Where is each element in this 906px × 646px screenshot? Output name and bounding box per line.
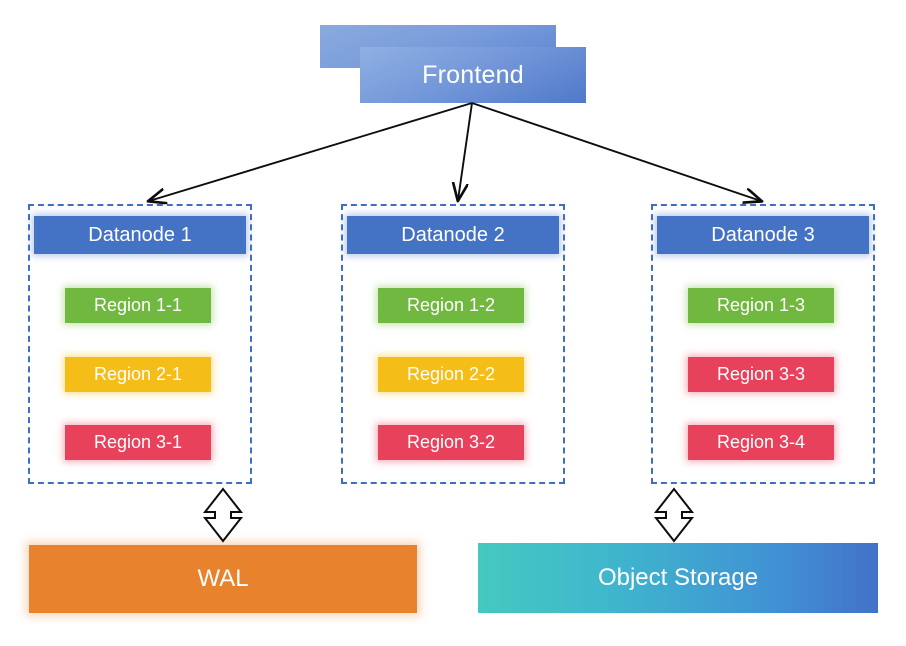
datanode-3-label: Datanode 3	[711, 224, 814, 247]
region-1-2[interactable]: Region 1-2	[378, 288, 524, 323]
region-label: Region 1-2	[407, 295, 495, 316]
region-label: Region 1-1	[94, 295, 182, 316]
region-2-1[interactable]: Region 2-1	[65, 357, 211, 392]
datanode-2-header: Datanode 2	[347, 216, 559, 254]
region-3-1[interactable]: Region 3-1	[65, 425, 211, 460]
datanode-1-container[interactable]: Datanode 1 Region 1-1 Region 2-1 Region …	[28, 204, 252, 484]
object-storage-label: Object Storage	[598, 564, 758, 592]
region-label: Region 3-1	[94, 432, 182, 453]
region-label: Region 3-3	[717, 364, 805, 385]
arrow-frontend-to-datanode-3	[472, 103, 761, 201]
arrow-frontend-to-datanode-1	[149, 103, 472, 201]
datanode-1-label: Datanode 1	[88, 224, 191, 247]
bidirectional-arrow-datanode1-wal	[205, 489, 241, 541]
region-1-1[interactable]: Region 1-1	[65, 288, 211, 323]
datanode-2-label: Datanode 2	[401, 224, 504, 247]
bidirectional-arrow-datanode3-object-storage	[656, 489, 692, 541]
frontend-box[interactable]: Frontend	[360, 47, 586, 103]
datanode-2-container[interactable]: Datanode 2 Region 1-2 Region 2-2 Region …	[341, 204, 565, 484]
region-label: Region 3-4	[717, 432, 805, 453]
arrow-frontend-to-datanode-2	[458, 103, 472, 200]
wal-label: WAL	[197, 565, 248, 593]
frontend-label: Frontend	[422, 61, 524, 90]
region-1-3[interactable]: Region 1-3	[688, 288, 834, 323]
datanode-3-header: Datanode 3	[657, 216, 869, 254]
region-label: Region 3-2	[407, 432, 495, 453]
datanode-3-container[interactable]: Datanode 3 Region 1-3 Region 3-3 Region …	[651, 204, 875, 484]
region-3-2[interactable]: Region 3-2	[378, 425, 524, 460]
region-3-3[interactable]: Region 3-3	[688, 357, 834, 392]
object-storage-box[interactable]: Object Storage	[478, 543, 878, 613]
region-label: Region 2-1	[94, 364, 182, 385]
region-2-2[interactable]: Region 2-2	[378, 357, 524, 392]
region-label: Region 1-3	[717, 295, 805, 316]
wal-box[interactable]: WAL	[29, 545, 417, 613]
datanode-1-header: Datanode 1	[34, 216, 246, 254]
diagram-canvas: Frontend Datanode 1 Region 1-1 Region 2-…	[0, 0, 906, 646]
region-label: Region 2-2	[407, 364, 495, 385]
region-3-4[interactable]: Region 3-4	[688, 425, 834, 460]
